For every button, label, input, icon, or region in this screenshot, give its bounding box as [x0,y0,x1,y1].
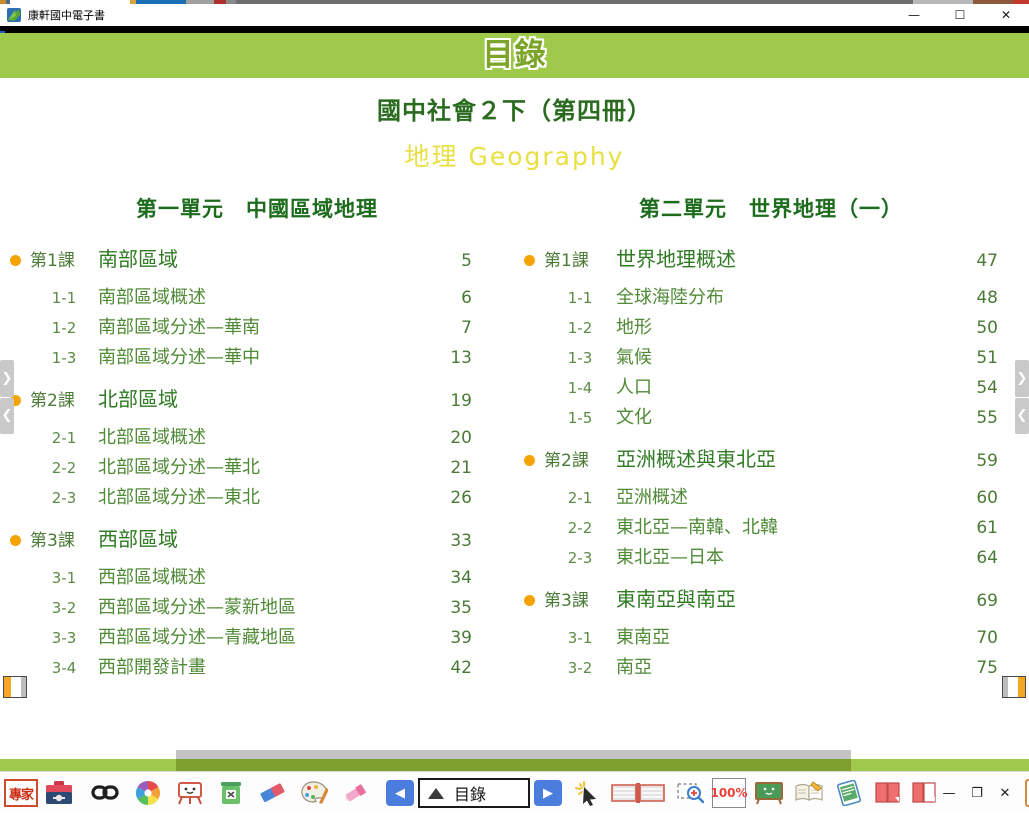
subsection-title: 北部區域概述 [98,423,412,449]
banner-title-text: 目錄 [483,37,547,73]
lesson-title: 世界地理概述 [616,243,938,272]
lesson-page: 33 [412,531,514,551]
zoom-level-button[interactable]: 100% [712,776,746,810]
expert-left-label: 專家 [4,779,38,807]
subsection-number: 3-1 [544,629,616,647]
subsection-page: 64 [938,548,1028,568]
subsection-title: 西部開發計畫 [98,653,412,679]
lesson-group: 第2課 亞洲概述與東北亞 59 2-1 亞洲概述 60 2-2 東北亞—南韓、北… [514,443,1028,563]
lesson-row[interactable]: 第3課 西部區域 33 [0,523,514,553]
subsection-title: 西部區域分述—青藏地區 [98,623,412,649]
page-title: 國中社會２下（第四冊） [0,91,1029,126]
lesson-row[interactable]: 第2課 北部區域 19 [0,383,514,413]
bottom-toolbar: 專家 [0,771,1029,814]
lesson-page: 19 [412,391,514,411]
subsection-title: 東北亞—日本 [616,543,938,569]
bullet-icon [514,246,544,276]
subsection-number: 3-3 [30,629,98,647]
subsection-title: 人口 [616,373,938,399]
prev-page-arrow-icon: ◀ [386,780,414,806]
subsection-page: 42 [412,658,514,678]
subsection-number: 2-2 [30,459,98,477]
open-book-icon[interactable] [610,776,666,810]
lesson-group: 第2課 北部區域 19 2-1 北部區域概述 20 2-2 北部區域分述—華北 [0,383,514,503]
left-side-nav: ❯ ❮ [0,360,14,435]
bullet-spacer [0,553,30,583]
horizontal-scrollbar-thumb[interactable] [176,750,851,759]
lesson-title: 亞洲概述與東北亞 [616,443,938,472]
viewer-close-icon: ✕ [994,781,1016,805]
viewer-minimize-button[interactable]: — [938,776,960,810]
prev-page-button[interactable]: ◀ [386,776,414,810]
subsection-number: 3-4 [30,659,98,677]
bullet-spacer [514,273,544,303]
subsection-number: 1-3 [544,349,616,367]
toc-selector[interactable]: 目錄 [418,776,530,810]
subsection-number: 3-1 [30,569,98,587]
subsection-title: 全球海陸分布 [616,283,938,309]
bullet-spacer [0,473,30,503]
lesson-number: 第1課 [544,246,616,271]
bullet-spacer [0,333,30,363]
bullet-spacer [0,303,30,333]
subsection-page: 61 [938,518,1028,538]
bullet-icon [514,446,544,476]
two-page-view-icon[interactable] [874,776,902,810]
subsection-page: 50 [938,318,1028,338]
lesson-number: 第3課 [30,526,98,551]
page-flip-left-icon[interactable] [3,676,27,698]
chevron-right-icon[interactable]: ❯ [1015,360,1029,397]
palette-icon[interactable] [300,776,328,810]
subsection-row[interactable]: 1-1 全球海陸分布 48 [514,273,1028,303]
subsection-number: 3-2 [30,599,98,617]
subsection-page: 39 [412,628,514,648]
right-side-nav: ❯ ❮ [1015,360,1029,435]
clipboard-icon[interactable] [1024,776,1029,810]
bullet-spacer [514,333,544,363]
subsection-row[interactable]: 2-1 亞洲概述 60 [514,473,1028,503]
lesson-title: 西部區域 [98,523,412,552]
next-page-button[interactable]: ▶ [534,776,562,810]
bullet-spacer [0,613,30,643]
subsection-title: 東北亞—南韓、北韓 [616,513,938,539]
subsection-row[interactable]: 1-1 南部區域概述 6 [0,273,514,303]
lesson-number: 第2課 [30,386,98,411]
next-page-arrow-icon: ▶ [534,780,562,806]
subsection-row[interactable]: 2-1 北部區域概述 20 [0,413,514,443]
viewer-close-button[interactable]: ✕ [994,776,1016,810]
subsection-number: 1-1 [544,289,616,307]
lesson-page: 59 [938,451,1028,471]
page-flip-right-icon[interactable] [1002,676,1026,698]
viewer-restore-button[interactable]: ❐ [966,776,988,810]
toc-columns: 第一單元 中國區域地理 第1課 南部區域 5 1-1 南部區域概述 6 [0,193,1029,693]
subsection-number: 2-3 [544,549,616,567]
lesson-title: 東南亞與南亞 [616,583,938,612]
subsection-title: 北部區域分述—東北 [98,483,412,509]
subsection-number: 1-1 [30,289,98,307]
lesson-page: 69 [938,591,1028,611]
one-page-view-icon[interactable] [910,776,938,810]
bullet-spacer [514,533,544,563]
chevron-up-icon [428,788,444,799]
subsection-title: 南部區域概述 [98,283,412,309]
subsection-number: 1-5 [544,409,616,427]
subsection-title: 地形 [616,313,938,339]
bullet-spacer [514,363,544,393]
chevron-left-icon[interactable]: ❮ [1015,398,1029,435]
bullet-spacer [0,643,30,673]
viewer-minimize-icon: — [938,781,960,805]
subsection-number: 3-2 [544,659,616,677]
subsection-page: 70 [938,628,1028,648]
lesson-group: 第3課 西部區域 33 3-1 西部區域概述 34 3-2 西部區域分述—蒙新地… [0,523,514,673]
subject-title: 地理 Geography [0,137,1029,173]
subsection-number: 1-4 [544,379,616,397]
maximize-button[interactable]: ☐ [937,4,983,26]
subsection-page: 26 [412,488,514,508]
bullet-spacer [0,273,30,303]
pointer-sparkle-icon[interactable] [572,776,600,810]
bullet-spacer [514,613,544,643]
subsection-page: 75 [938,658,1028,678]
lesson-number: 第3課 [544,586,616,611]
viewer-top-band [0,26,1029,33]
subsection-page: 48 [938,288,1028,308]
subsection-number: 2-1 [544,489,616,507]
subsection-page: 13 [412,348,514,368]
toc-selector-label: 目錄 [454,781,486,805]
subsection-row[interactable]: 3-1 東南亞 70 [514,613,1028,643]
subsection-page: 20 [412,428,514,448]
easel-icon[interactable] [176,776,204,810]
subsection-title: 南部區域分述—華南 [98,313,412,339]
bullet-spacer [0,443,30,473]
subsection-title: 西部區域概述 [98,563,412,589]
subsection-page: 7 [412,318,514,338]
subsection-title: 東南亞 [616,623,938,649]
unit-title: 第一單元 中國區域地理 [0,193,514,223]
title-bar: 康軒國中電子書 — ☐ ✕ [0,4,1029,27]
banner-title: 目錄 [483,40,547,71]
book-app-icon [6,7,22,23]
zoom-select-icon[interactable] [676,776,706,810]
close-button[interactable]: ✕ [983,4,1029,26]
subsection-page: 60 [938,488,1028,508]
subsection-page: 34 [412,568,514,588]
page-content: 國中社會２下（第四冊） 地理 Geography 第一單元 中國區域地理 第1課… [0,78,1029,750]
subsection-title: 氣候 [616,343,938,369]
highlighter-icon[interactable] [342,776,370,810]
lesson-page: 5 [412,251,514,271]
subsection-number: 1-3 [30,349,98,367]
lesson-number: 第2課 [544,446,616,471]
bullet-spacer [514,643,544,673]
bullet-icon [0,526,30,556]
tablet-icon[interactable] [834,776,864,810]
eraser-icon[interactable] [258,776,286,810]
subsection-row[interactable]: 3-1 西部區域概述 34 [0,553,514,583]
lesson-row[interactable]: 第3課 東南亞與南亞 69 [514,583,1028,613]
lesson-number: 第1課 [30,246,98,271]
subsection-number: 2-3 [30,489,98,507]
subsection-number: 2-2 [544,519,616,537]
bullet-spacer [514,303,544,333]
blackboard-icon[interactable] [754,776,784,810]
toolbox-icon[interactable] [44,776,74,810]
lesson-row[interactable]: 第2課 亞洲概述與東北亞 59 [514,443,1028,473]
toolbar-bottom-edge [0,813,1029,821]
page-footer-bar-active [176,759,851,771]
toc-column-left: 第一單元 中國區域地理 第1課 南部區域 5 1-1 南部區域概述 6 [0,193,514,693]
bullet-icon [0,246,30,276]
link-icon[interactable] [90,776,120,810]
lesson-title: 南部區域 [98,243,412,272]
toc-column-right: 第二單元 世界地理（一） 第1課 世界地理概述 47 1-1 全球海陸分布 48 [514,193,1028,693]
bullet-spacer [514,393,544,423]
app-window: 康軒國中電子書 — ☐ ✕ 目錄 國中社會２下（第四冊） 地理 Geograph… [0,0,1029,821]
notebook-icon[interactable] [794,776,824,810]
unit-title: 第二單元 世界地理（一） [514,193,1028,223]
chevron-left-icon[interactable]: ❮ [0,398,14,435]
subsection-title: 南部區域分述—華中 [98,343,412,369]
viewer-restore-icon: ❐ [966,781,988,805]
bullet-spacer [514,503,544,533]
lesson-title: 北部區域 [98,383,412,412]
expert-left-button[interactable]: 專家 [4,776,38,810]
subsection-number: 1-2 [544,319,616,337]
trash-icon[interactable] [218,776,244,810]
lesson-group: 第3課 東南亞與南亞 69 3-1 東南亞 70 3-2 南亞 75 [514,583,1028,673]
lesson-page: 47 [938,251,1028,271]
lesson-group: 第1課 世界地理概述 47 1-1 全球海陸分布 48 1-2 地形 [514,243,1028,423]
lesson-row[interactable]: 第1課 世界地理概述 47 [514,243,1028,273]
bullet-spacer [0,583,30,613]
subsection-number: 1-2 [30,319,98,337]
subsection-title: 西部區域分述—蒙新地區 [98,593,412,619]
zoom-level-label: 100% [712,778,746,808]
color-wheel-icon[interactable] [134,776,162,810]
subsection-number: 2-1 [30,429,98,447]
subsection-title: 亞洲概述 [616,483,938,509]
lesson-group: 第1課 南部區域 5 1-1 南部區域概述 6 1-2 南部區域分述—華南 [0,243,514,363]
minimize-button[interactable]: — [891,4,937,26]
subsection-page: 6 [412,288,514,308]
toc-banner: 目錄 [0,33,1029,78]
bullet-spacer [514,473,544,503]
subsection-page: 21 [412,458,514,478]
bullet-icon [514,586,544,616]
lesson-row[interactable]: 第1課 南部區域 5 [0,243,514,273]
chevron-right-icon[interactable]: ❯ [0,360,14,397]
subsection-title: 北部區域分述—華北 [98,453,412,479]
window-title: 康軒國中電子書 [28,7,105,23]
subsection-page: 35 [412,598,514,618]
subsection-title: 文化 [616,403,938,429]
subsection-title: 南亞 [616,653,938,679]
